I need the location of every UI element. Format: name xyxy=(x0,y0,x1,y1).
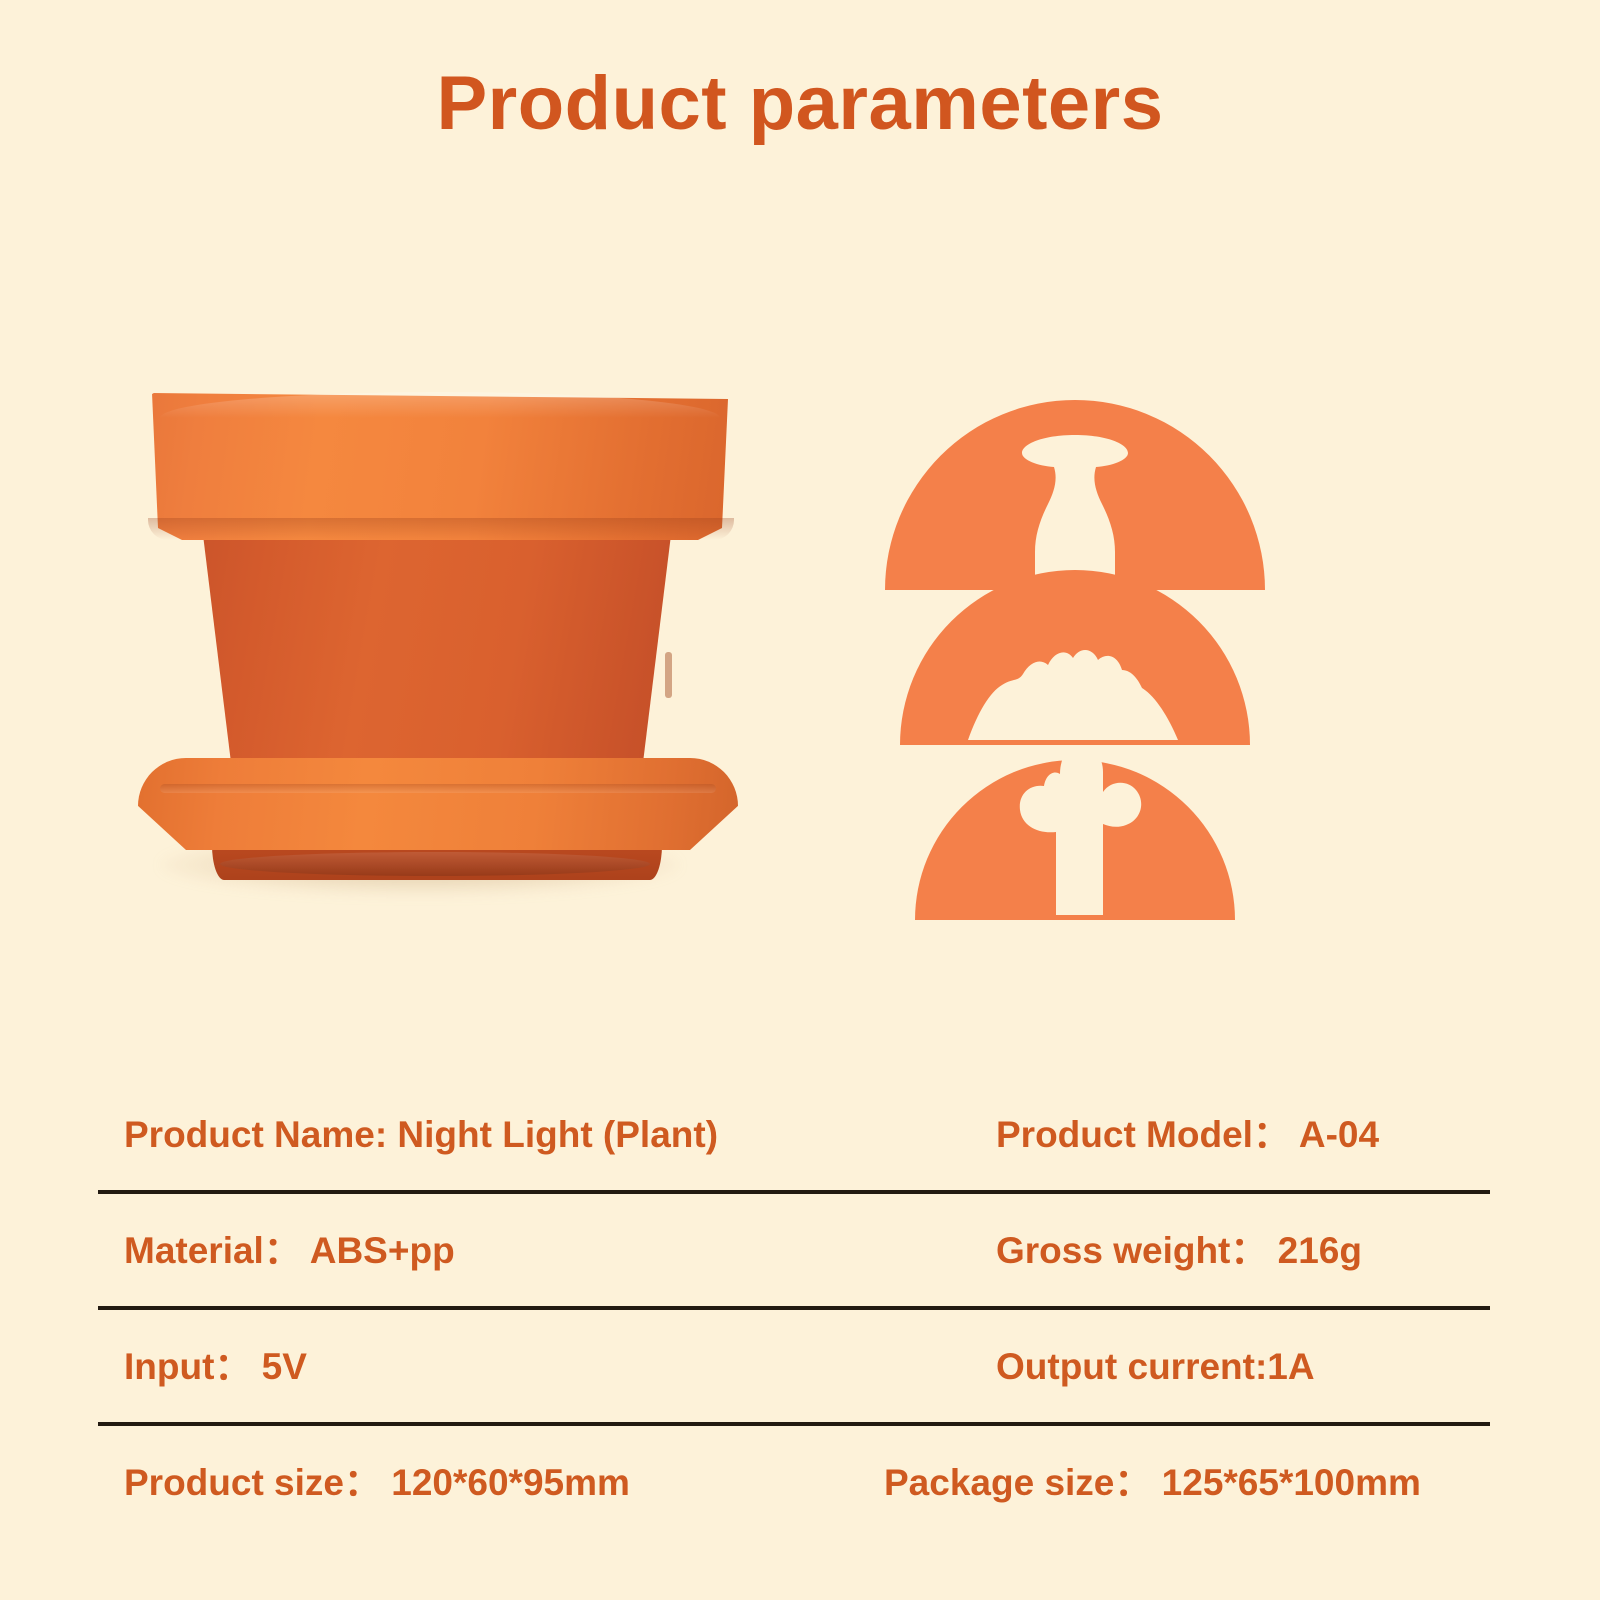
table-row: Input： 5V Output current:1A xyxy=(98,1310,1490,1426)
spec-gross-weight: Gross weight： 216g xyxy=(964,1232,1490,1269)
pot-saucer-groove xyxy=(160,784,716,793)
spec-material: Material： ABS+pp xyxy=(98,1232,964,1269)
product-hero xyxy=(0,330,1600,1030)
spec-output-current: Output current:1A xyxy=(964,1348,1490,1385)
pot-saucer xyxy=(138,758,738,850)
mushroom-dome xyxy=(885,400,1265,590)
spec-package-size: Package size： 125*65*100mm xyxy=(884,1464,1490,1501)
table-row: Product size： 120*60*95mm Package size： … xyxy=(98,1426,1490,1538)
spec-table: Product Name: Night Light (Plant) Produc… xyxy=(98,1078,1490,1538)
pot-seam-line xyxy=(665,652,672,698)
spec-input: Input： 5V xyxy=(98,1348,964,1385)
spec-product-size: Product size： 120*60*95mm xyxy=(98,1464,884,1501)
bush-dome xyxy=(900,570,1250,745)
pot-rim-shadow xyxy=(148,518,734,540)
spec-product-model: Product Model： A-04 xyxy=(964,1116,1490,1153)
pot-base-shine xyxy=(220,852,650,876)
table-row: Product Name: Night Light (Plant) Produc… xyxy=(98,1078,1490,1194)
table-row: Material： ABS+pp Gross weight： 216g xyxy=(98,1194,1490,1310)
plant-pot-image xyxy=(120,380,760,960)
spec-product-name: Product Name: Night Light (Plant) xyxy=(98,1116,964,1153)
cactus-dome xyxy=(915,760,1235,920)
silhouette-group xyxy=(860,340,1290,920)
page-title: Product parameters xyxy=(0,62,1600,146)
